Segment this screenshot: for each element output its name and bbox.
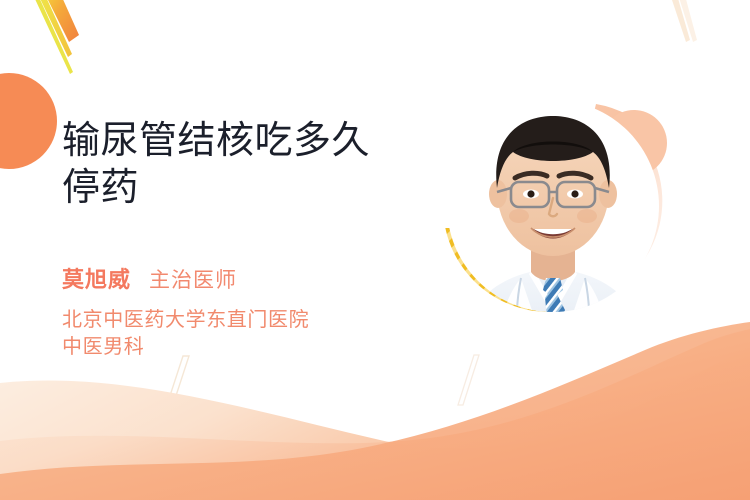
doctor-affiliation: 北京中医药大学东直门医院 中医男科 bbox=[62, 307, 422, 361]
doctor-portrait bbox=[443, 100, 655, 312]
doctor-name: 莫旭威 bbox=[62, 262, 131, 294]
text-content: 输尿管结核吃多久 停药 莫旭威 主治医师 北京中医药大学东直门医院 中医男科 bbox=[62, 118, 422, 361]
doctor-identity-line: 莫旭威 主治医师 bbox=[62, 262, 422, 294]
doctor-info-card: 输尿管结核吃多久 停药 莫旭威 主治医师 北京中医药大学东直门医院 中医男科 bbox=[0, 0, 750, 500]
top-right-stripes-icon bbox=[668, 0, 697, 42]
doctor-rank: 主治医师 bbox=[149, 264, 237, 294]
left-orange-circle bbox=[0, 73, 57, 169]
page-title: 输尿管结核吃多久 停药 bbox=[62, 118, 422, 212]
doctor-photo-illustration bbox=[403, 72, 703, 372]
top-left-stripes-icon bbox=[28, 0, 79, 74]
